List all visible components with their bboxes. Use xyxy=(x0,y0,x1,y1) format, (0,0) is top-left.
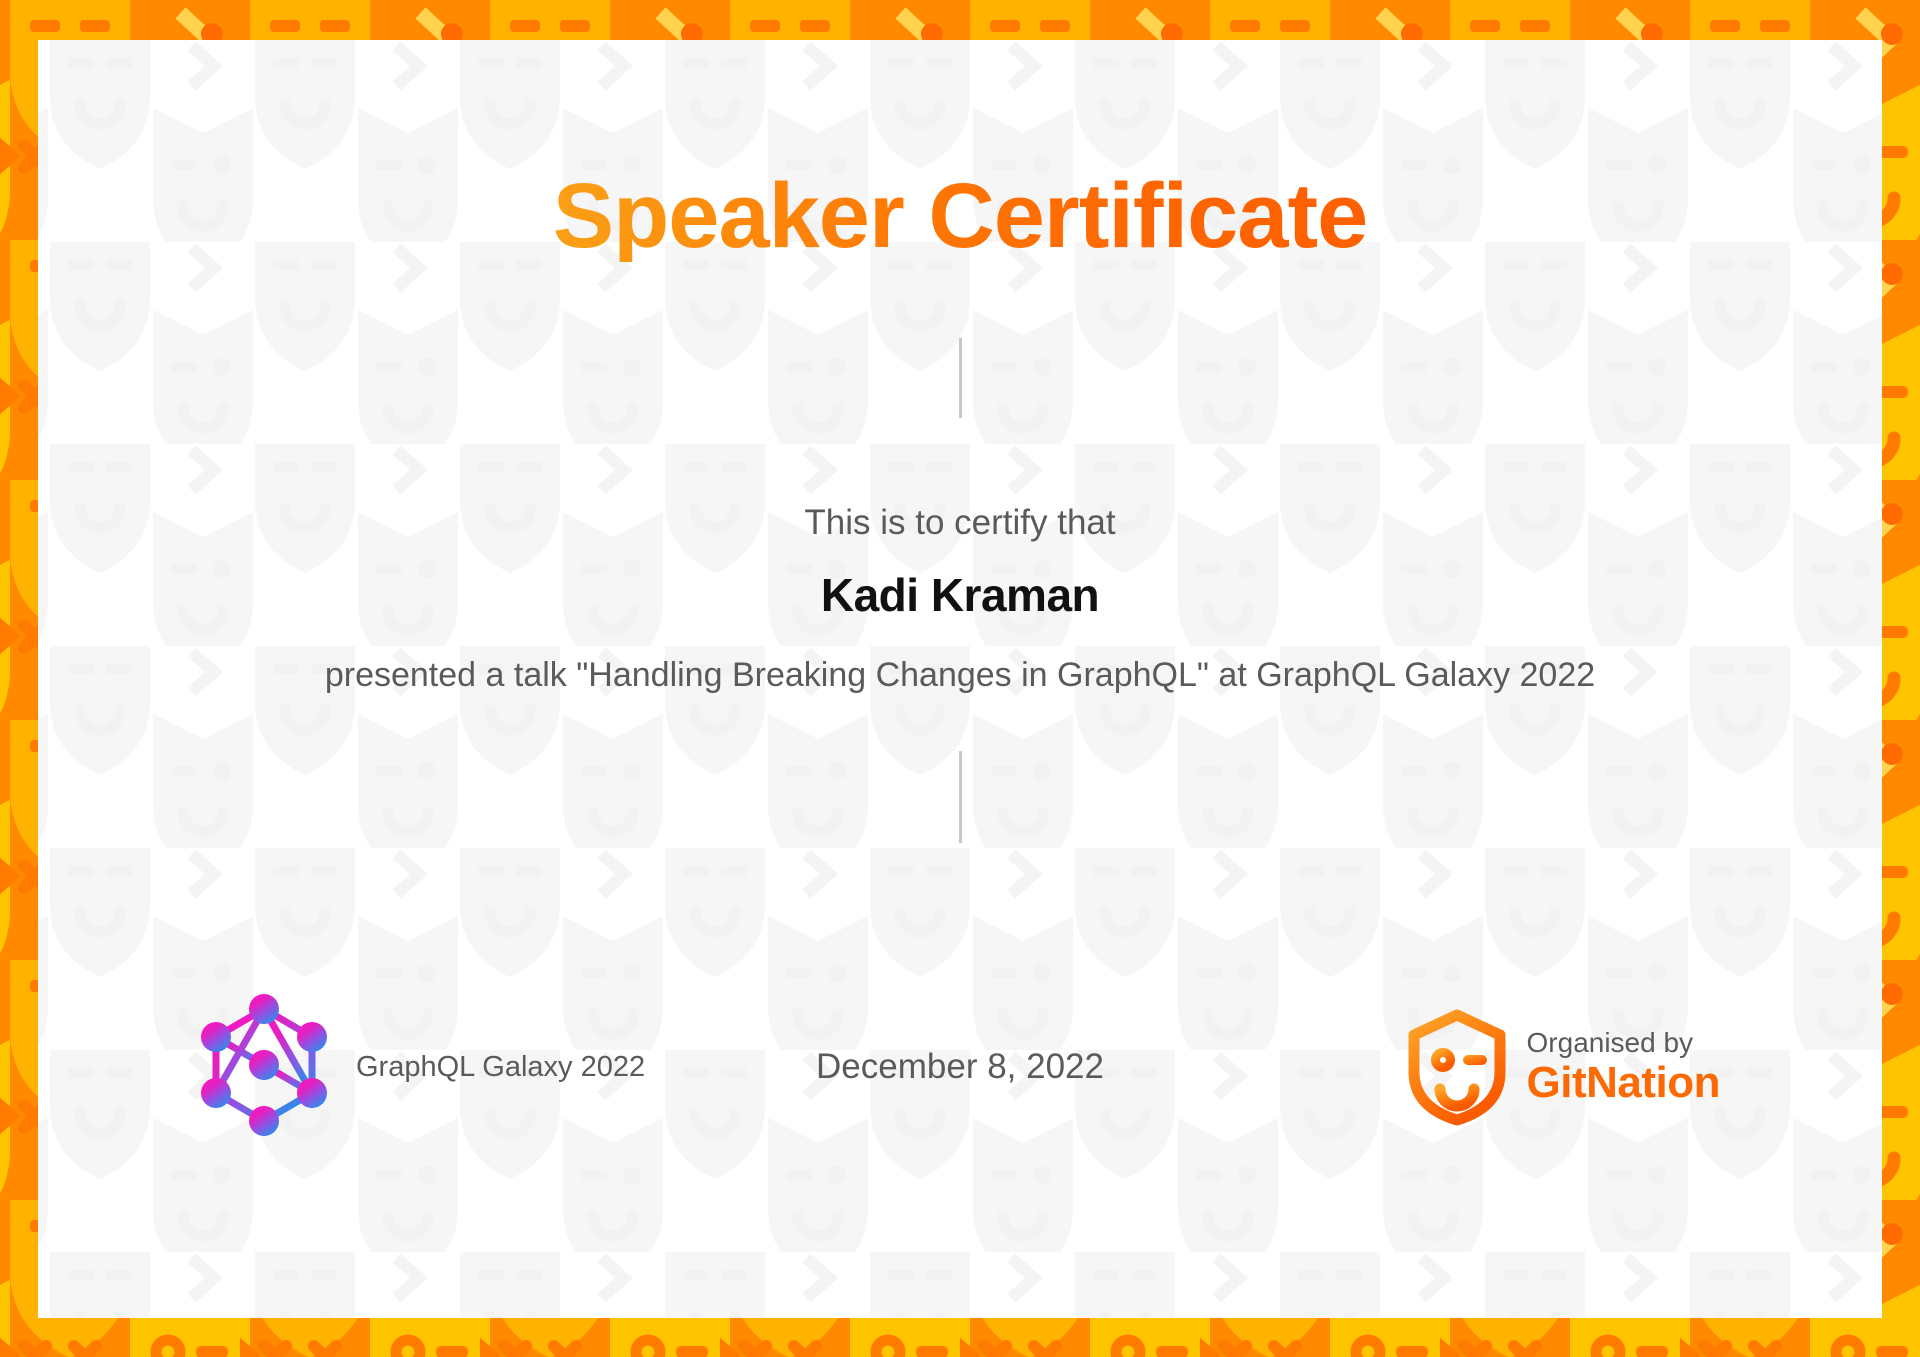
organiser-text-block: Organised by GitNation xyxy=(1527,1027,1720,1108)
divider-bottom xyxy=(959,751,962,843)
footer-organiser-block: Organised by GitNation xyxy=(1407,1008,1720,1126)
divider-top xyxy=(959,338,962,418)
gitnation-shield-icon xyxy=(1407,1008,1507,1126)
graphql-logo xyxy=(198,993,330,1141)
certificate-footer: GraphQL Galaxy 2022 December 8, 2022 xyxy=(38,992,1882,1142)
footer-event-block: GraphQL Galaxy 2022 xyxy=(198,993,645,1141)
certificate-title: Speaker Certificate xyxy=(553,170,1368,262)
organised-by-label: Organised by xyxy=(1527,1027,1720,1058)
event-name: GraphQL Galaxy 2022 xyxy=(356,1051,645,1084)
talk-description: presented a talk "Handling Breaking Chan… xyxy=(245,653,1675,699)
certify-statement: This is to certify that xyxy=(210,502,1710,544)
certificate-body: This is to certify that Kadi Kraman pres… xyxy=(210,502,1710,699)
certificate-date: December 8, 2022 xyxy=(816,1047,1104,1087)
recipient-name: Kadi Kraman xyxy=(210,568,1710,623)
certificate-sheet: Speaker Certificate This is to certify t… xyxy=(38,40,1882,1318)
organiser-name: GitNation xyxy=(1527,1058,1720,1107)
certificate-frame: Speaker Certificate This is to certify t… xyxy=(0,0,1920,1357)
